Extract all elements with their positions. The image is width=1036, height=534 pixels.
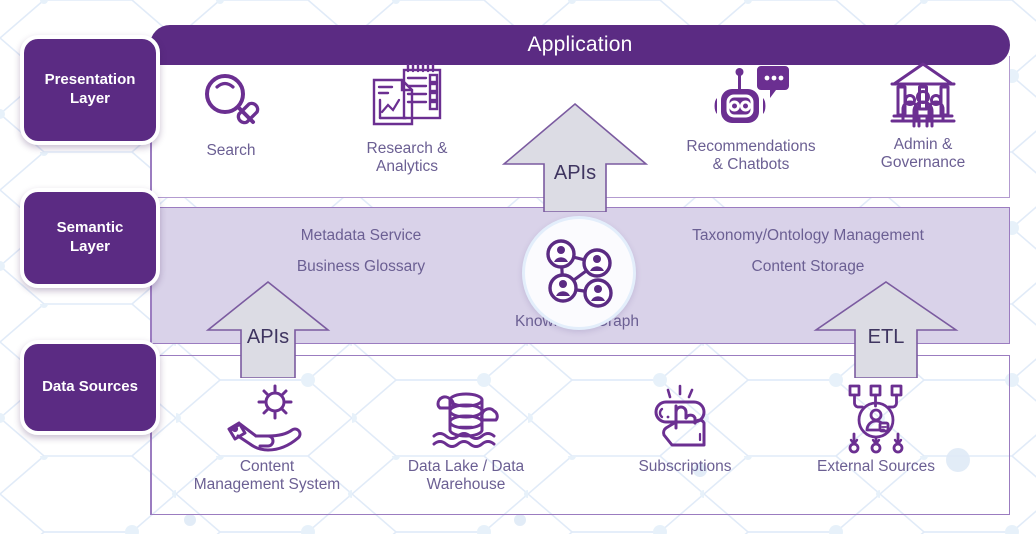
tile-content-management-system-label: Content Management System bbox=[172, 458, 362, 495]
layer-chip-semantic[interactable]: Semantic Layer bbox=[20, 188, 160, 288]
tile-recommendations-chatbots-label: Recommendations & Chatbots bbox=[650, 138, 852, 175]
arrow-apis-presentation: APIs bbox=[500, 100, 650, 212]
up-arrow-shape bbox=[500, 100, 650, 212]
tile-subscriptions-label: Subscriptions bbox=[600, 458, 770, 476]
tile-research-analytics[interactable]: Research & Analytics bbox=[330, 62, 484, 177]
magnifier-icon bbox=[195, 66, 267, 138]
arrow-apis-semantic-label: APIs bbox=[204, 326, 332, 349]
layer-chip-presentation-label: Presentation Layer bbox=[45, 71, 136, 109]
tile-search-label: Search bbox=[172, 142, 290, 160]
data-lake-icon bbox=[424, 382, 508, 454]
tile-search[interactable]: Search bbox=[172, 66, 290, 160]
click-hand-icon bbox=[646, 382, 724, 454]
bank-people-icon bbox=[886, 58, 960, 132]
tile-admin-governance[interactable]: Admin & Governance bbox=[856, 58, 990, 173]
diagram-canvas: Application Presentation Layer Semantic … bbox=[0, 0, 1036, 534]
semantic-item-content-storage: Content Storage bbox=[640, 258, 976, 276]
knowledge-graph-node[interactable] bbox=[522, 216, 636, 330]
tile-data-lake-warehouse[interactable]: Data Lake / Data Warehouse bbox=[380, 382, 552, 495]
application-title: Application bbox=[528, 33, 633, 57]
tile-admin-governance-label: Admin & Governance bbox=[856, 136, 990, 173]
semantic-item-taxonomy-ontology-management: Taxonomy/Ontology Management bbox=[640, 227, 976, 245]
arrow-etl-semantic: ETL bbox=[812, 278, 960, 378]
arrow-etl-semantic-label: ETL bbox=[812, 326, 960, 349]
tile-data-lake-warehouse-label: Data Lake / Data Warehouse bbox=[380, 458, 552, 495]
layer-chip-data-sources-label: Data Sources bbox=[42, 378, 138, 397]
tile-content-management-system[interactable]: Content Management System bbox=[172, 382, 362, 495]
tile-external-sources[interactable]: External Sources bbox=[796, 382, 956, 476]
semantic-item-metadata-service: Metadata Service bbox=[232, 227, 490, 245]
arrow-apis-semantic: APIs bbox=[204, 278, 332, 378]
tile-subscriptions[interactable]: Subscriptions bbox=[600, 382, 770, 476]
tile-external-sources-label: External Sources bbox=[796, 458, 956, 476]
report-chart-icon bbox=[368, 62, 446, 136]
knowledge-graph-icon bbox=[536, 230, 622, 316]
semantic-item-business-glossary: Business Glossary bbox=[232, 258, 490, 276]
tile-recommendations-chatbots[interactable]: Recommendations & Chatbots bbox=[650, 58, 852, 175]
layer-chip-semantic-label: Semantic Layer bbox=[57, 219, 124, 257]
hand-gear-icon bbox=[225, 382, 309, 454]
external-source-icon bbox=[838, 382, 914, 454]
arrow-apis-presentation-label: APIs bbox=[500, 162, 650, 185]
layer-chip-data-sources[interactable]: Data Sources bbox=[20, 340, 160, 435]
layer-chip-presentation[interactable]: Presentation Layer bbox=[20, 35, 160, 145]
robot-chat-icon bbox=[711, 58, 791, 134]
tile-research-analytics-label: Research & Analytics bbox=[330, 140, 484, 177]
